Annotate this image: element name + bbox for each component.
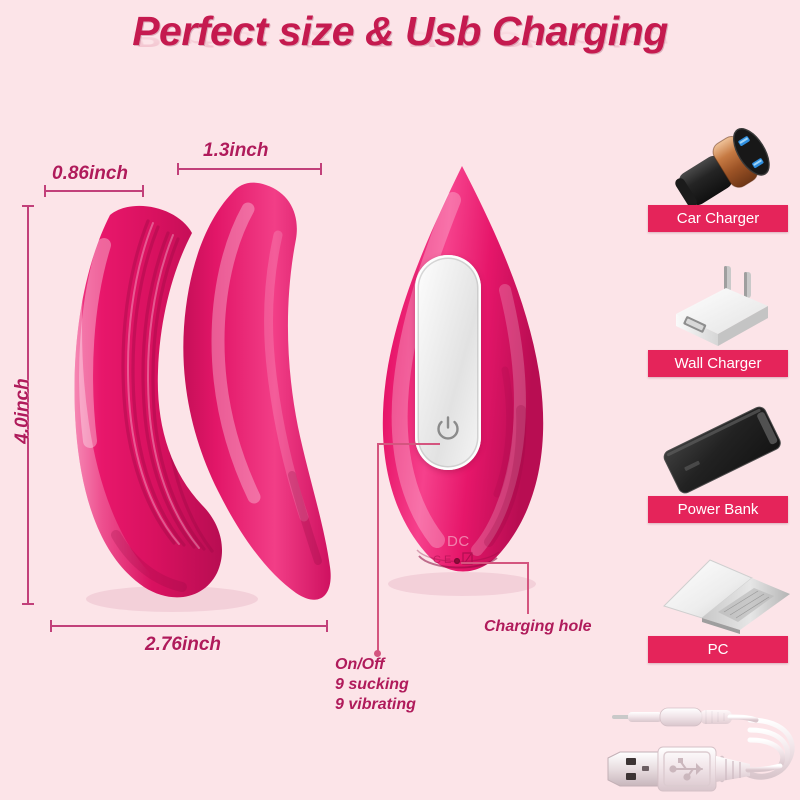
- dimension-line-width-right: [177, 168, 322, 170]
- infographic-canvas: Perfect size & Usb Charging Perfect size…: [0, 0, 800, 800]
- callout-charging-hole: Charging hole: [484, 617, 592, 637]
- controls-leader-horizontal: [378, 443, 440, 445]
- charging-option-car-charger: Car Charger: [640, 112, 800, 212]
- callout-controls: On/Off 9 sucking 9 vibrating: [335, 655, 416, 715]
- badge-car-charger: Car Charger: [648, 205, 788, 232]
- dimension-label-height: 4.0inch: [12, 356, 34, 466]
- dimension-label-width-total: 2.76inch: [145, 634, 221, 656]
- badge-power-bank: Power Bank: [648, 496, 788, 523]
- badge-pc: PC: [648, 636, 788, 663]
- charging-option-pc: PC: [640, 552, 800, 638]
- dimension-label-width-left: 0.86inch: [52, 163, 128, 185]
- charging-option-wall-charger: Wall Charger: [640, 262, 800, 354]
- callout-controls-line2: 9 sucking: [335, 675, 416, 695]
- usb-charging-cable: [600, 686, 800, 800]
- product-front-view: C E DC: [355, 160, 570, 600]
- charging-option-power-bank: Power Bank: [640, 400, 800, 500]
- callout-controls-line3: 9 vibrating: [335, 695, 416, 715]
- dimension-line-width-left: [44, 190, 144, 192]
- charging-hole-leader-vertical: [527, 562, 529, 614]
- header-title-block: Perfect size & Usb Charging Perfect size…: [0, 8, 800, 88]
- control-panel[interactable]: [415, 255, 481, 470]
- power-icon[interactable]: [433, 414, 463, 444]
- charging-hole: [454, 558, 460, 564]
- car-charger-image: [640, 112, 800, 212]
- power-bank-image: [640, 400, 800, 500]
- product-side-view: [52, 175, 332, 615]
- dc-pin-connector: [612, 708, 756, 726]
- svg-text:C E: C E: [433, 554, 451, 566]
- page-title-reflection: Perfect size & Usb Charging: [0, 27, 800, 52]
- dc-port-label: DC: [447, 533, 470, 550]
- charging-hole-leader-horizontal: [461, 562, 529, 564]
- usb-a-connector: [608, 747, 780, 791]
- dimension-label-width-right: 1.3inch: [203, 140, 268, 162]
- wall-charger-image: [640, 262, 800, 354]
- controls-leader-vertical: [377, 443, 379, 655]
- dimension-line-width-total: [50, 625, 328, 627]
- badge-wall-charger: Wall Charger: [648, 350, 788, 377]
- callout-controls-line1: On/Off: [335, 655, 416, 675]
- pc-laptop-image: [640, 552, 800, 638]
